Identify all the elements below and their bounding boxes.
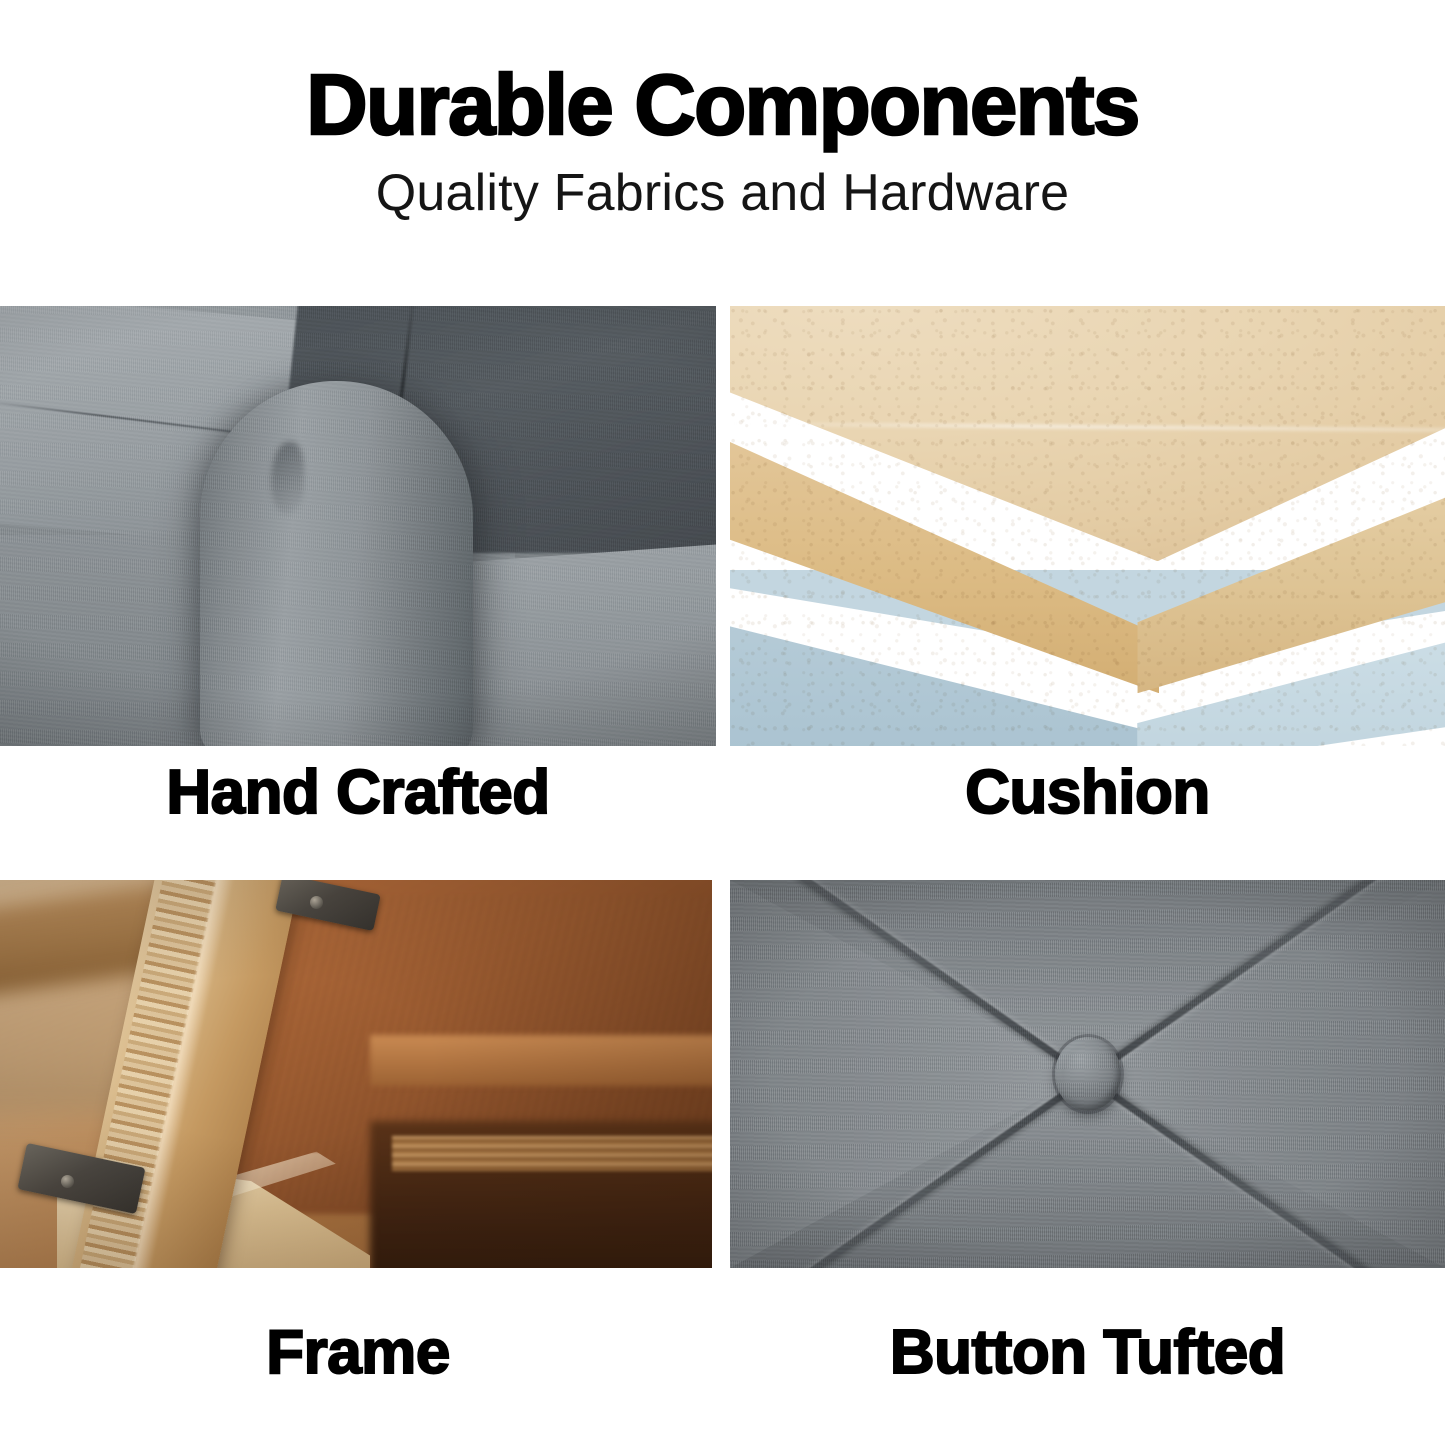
foam-cushion-photo [730,306,1445,746]
image-panel-cushion [730,306,1445,746]
infographic-page: Durable Components Quality Fabrics and H… [0,0,1445,1445]
image-panel-button-tufted [730,880,1445,1268]
image-panel-hand-crafted [0,306,716,746]
depth-of-field-overlay [0,880,712,1268]
vignette-overlay [0,306,716,746]
panel-label-cushion: Cushion [730,758,1445,828]
button-tufted-velvet-photo [730,880,1445,1268]
velvet-sofa-arm-photo [0,306,716,746]
wood-frame-photo [0,880,712,1268]
panel-label-frame: Frame [0,1318,716,1388]
foam-pore-texture [730,306,1445,746]
panel-label-button-tufted: Button Tufted [730,1318,1445,1388]
vignette-overlay [730,880,1445,1268]
image-panel-frame [0,880,712,1268]
panel-label-hand-crafted: Hand Crafted [0,758,716,828]
page-subtitle: Quality Fabrics and Hardware [0,164,1445,222]
page-title: Durable Components [0,60,1445,152]
